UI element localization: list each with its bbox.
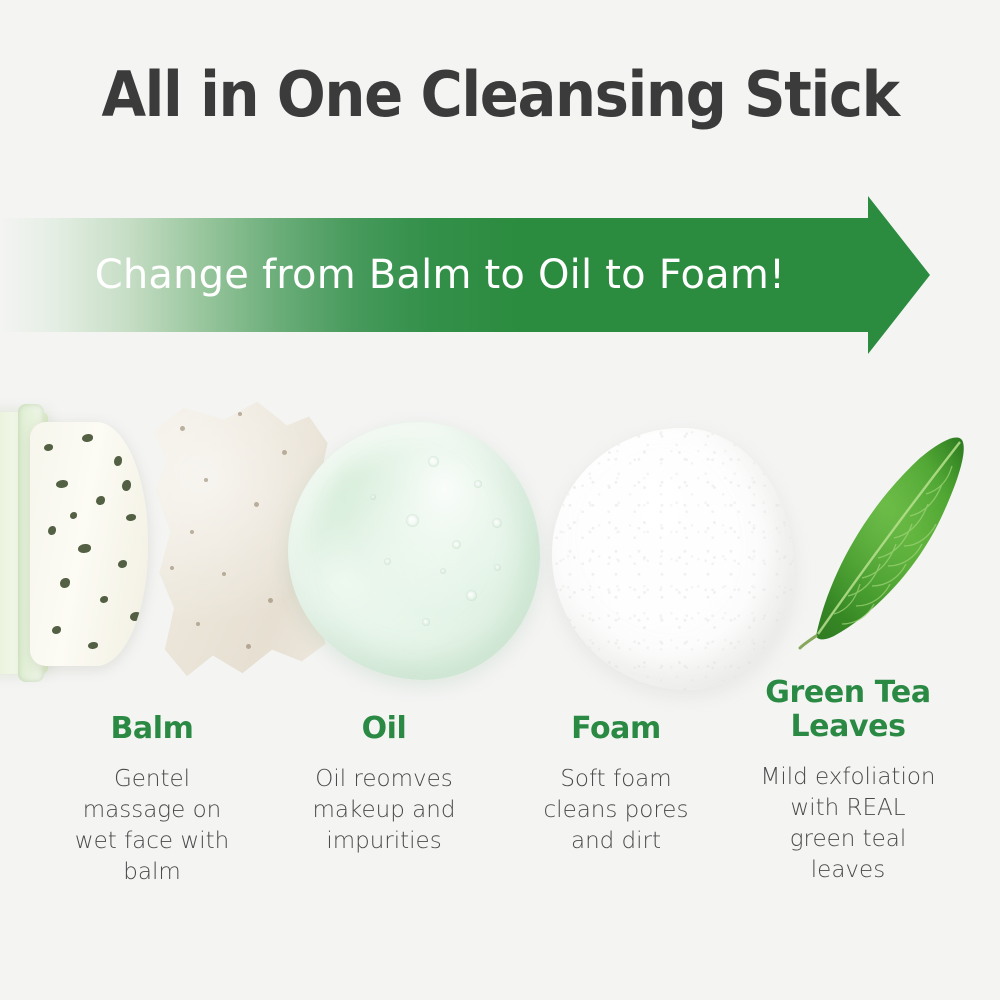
column-oil-heading: Oil [278,712,490,746]
feature-columns: Balm Gentel massage on wet face with bal… [36,712,964,888]
product-visual-row [0,370,1000,710]
column-green-tea-leaves-heading: Green Tea Leaves [742,676,954,744]
stick-balm-bar [30,422,148,666]
column-green-tea-leaves: Green Tea Leaves Mild exfoliation with R… [732,712,964,888]
process-arrow-banner [0,196,930,354]
leaf-icon [798,428,974,658]
column-balm-body: Gentel massage on wet face with balm [46,764,258,888]
column-foam-heading: Foam [510,712,722,746]
column-balm-heading: Balm [46,712,258,746]
green-tea-leaf-image [798,428,974,658]
page-title: All in One Cleansing Stick [35,58,965,131]
cleansing-stick-image [0,390,180,690]
column-oil-body: Oil reomves makeup and impurities [278,764,490,857]
column-green-tea-leaves-body: Mild exfoliation with REAL green teal le… [742,762,954,886]
arrow-shape-icon [0,196,930,354]
column-foam: Foam Soft foam cleans pores and dirt [500,712,732,888]
column-balm: Balm Gentel massage on wet face with bal… [36,712,268,888]
foam-dome-image [552,428,794,690]
foam-texture [552,428,794,690]
oil-droplet-image [288,422,540,680]
column-foam-body: Soft foam cleans pores and dirt [510,764,722,857]
product-infographic: All in One Cleansing Stick Change from B [0,0,1000,1000]
column-oil: Oil Oil reomves makeup and impurities [268,712,500,888]
